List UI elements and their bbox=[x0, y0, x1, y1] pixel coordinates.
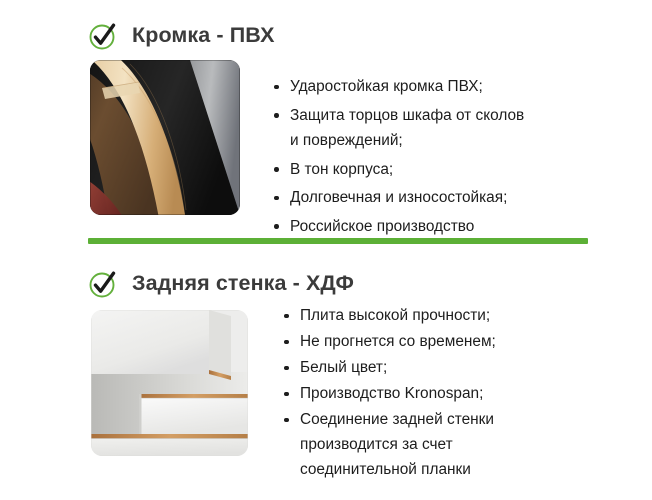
list-item: Белый цвет; bbox=[282, 355, 612, 380]
hdf-back-panel-photo bbox=[91, 310, 248, 456]
section-title: Задняя стенка - ХДФ bbox=[132, 273, 354, 295]
product-features-page: Кромка - ПВХ bbox=[0, 0, 652, 500]
feature-list-edge-banding: Ударостойкая кромка ПВХ; Защита торцов ш… bbox=[272, 74, 612, 242]
section-divider bbox=[88, 238, 588, 244]
list-item: Не прогнется со временем; bbox=[282, 329, 612, 354]
list-item: Защита торцов шкафа от сколов и поврежде… bbox=[272, 103, 612, 154]
list-item: Соединение задней стенки производится за… bbox=[282, 407, 612, 482]
list-item: В тон корпуса; bbox=[272, 157, 612, 183]
pvc-edge-banding-photo bbox=[90, 60, 240, 215]
list-item: Производство Kronospan; bbox=[282, 381, 612, 406]
section-heading-back-panel: Задняя стенка - ХДФ bbox=[88, 266, 354, 302]
list-item: Долговечная и износостойкая; bbox=[272, 185, 612, 211]
check-circle-icon bbox=[88, 269, 118, 299]
list-item: Ударостойкая кромка ПВХ; bbox=[272, 74, 612, 100]
list-item: Плита высокой прочности; bbox=[282, 303, 612, 328]
check-circle-icon bbox=[88, 21, 118, 51]
section-heading-edge-banding: Кромка - ПВХ bbox=[88, 18, 275, 54]
feature-list-back-panel: Плита высокой прочности; Не прогнется со… bbox=[282, 303, 612, 483]
section-edge-banding: Кромка - ПВХ bbox=[0, 0, 652, 232]
list-item: Российское производство bbox=[272, 214, 612, 240]
section-title: Кромка - ПВХ bbox=[132, 25, 275, 47]
